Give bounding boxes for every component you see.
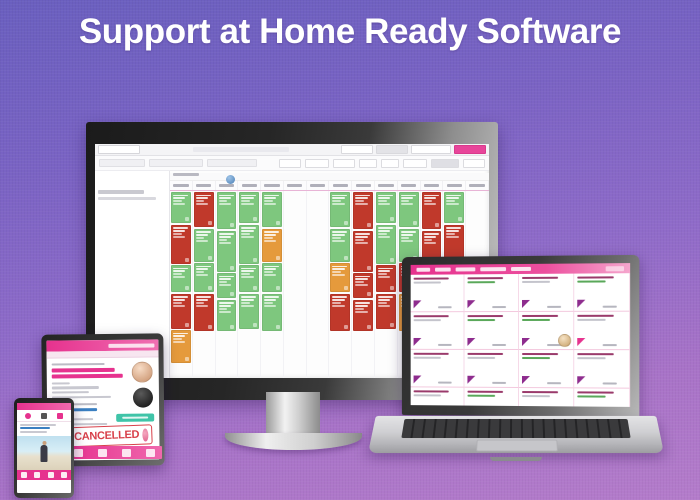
beach-photo (17, 436, 71, 470)
nav-icon-calendar[interactable] (98, 449, 107, 457)
rose-icon (142, 428, 149, 441)
shift-card[interactable] (411, 350, 465, 388)
status-flag-icon (414, 376, 422, 384)
shift-card[interactable] (464, 350, 519, 388)
shift-card-service (577, 281, 605, 283)
phone-bottom-nav[interactable] (17, 470, 71, 480)
calendar-event[interactable] (171, 294, 191, 329)
day-header (261, 181, 284, 190)
shift-card[interactable] (411, 274, 465, 312)
status-flag-icon (467, 338, 475, 346)
shift-card-service (467, 281, 495, 283)
calendar-event[interactable] (330, 229, 350, 262)
shift-card-service (522, 319, 550, 321)
toolbar-button-print[interactable] (411, 145, 451, 154)
staff-avatar (226, 175, 235, 184)
calendar-event[interactable] (171, 192, 191, 223)
topbar-center (143, 147, 338, 152)
calendar-event[interactable] (262, 294, 282, 331)
heart-icon[interactable] (25, 413, 31, 419)
laptop-app-logo (606, 266, 624, 271)
calendar-event[interactable] (262, 192, 282, 227)
phone-nav-home-icon[interactable] (21, 472, 27, 478)
shift-card-name (522, 391, 559, 394)
shift-card[interactable] (411, 312, 465, 350)
address-section-label (52, 382, 70, 384)
tablet-bottom-nav[interactable] (66, 446, 162, 459)
page-title: Support at Home Ready Software (0, 12, 700, 52)
toolbar-button-export[interactable] (376, 145, 408, 154)
heart-outline-icon[interactable] (57, 413, 63, 419)
shift-card-time (492, 344, 506, 346)
shift-card[interactable] (519, 274, 574, 312)
shift-card-service (522, 395, 550, 397)
shift-card-time (603, 382, 617, 384)
day-header (421, 181, 444, 190)
shift-card-name (577, 314, 614, 317)
laptop-keyboard[interactable] (401, 419, 630, 438)
service-type-field[interactable] (207, 159, 257, 167)
date-range-field[interactable] (99, 159, 145, 167)
shift-card-service (467, 395, 495, 397)
calendar-event[interactable] (217, 300, 237, 331)
shift-card-grid (411, 273, 631, 407)
mobile-phone (14, 398, 74, 498)
team-branch-field[interactable] (149, 159, 203, 167)
day-header-row (170, 181, 489, 191)
shift-card-time (492, 306, 506, 308)
shift-card-service (577, 319, 605, 321)
day-header (375, 181, 398, 190)
staff-name (98, 190, 144, 194)
staff-role (98, 197, 156, 200)
calendar-event[interactable] (376, 192, 396, 223)
chip-this-week[interactable] (431, 159, 459, 168)
monitor-stand-base (225, 433, 362, 450)
calendar-day-column[interactable] (238, 191, 261, 378)
day-header (398, 181, 421, 190)
shift-card-service (522, 281, 550, 283)
chip-agenda[interactable] (403, 159, 427, 168)
calendar-event[interactable] (330, 294, 350, 331)
shift-card-service (577, 395, 605, 397)
shift-card-time (603, 344, 617, 346)
phone-nav-profile-icon[interactable] (61, 472, 67, 478)
status-flag-icon (522, 376, 530, 384)
shift-card-time (438, 306, 452, 308)
phone-body-text (17, 422, 71, 436)
calendar-event[interactable] (353, 300, 373, 331)
shift-card-name (577, 353, 614, 356)
status-flag-icon (467, 376, 475, 384)
day-header (466, 181, 489, 190)
calendar-event[interactable] (239, 192, 259, 223)
shift-card-time (547, 382, 561, 384)
client-avatar (132, 361, 153, 382)
shift-card-name (414, 315, 450, 318)
nav-icon-clipboard[interactable] (122, 449, 131, 457)
shift-card-service (467, 319, 495, 321)
calendar-day-column[interactable] (329, 191, 352, 378)
tablet-header-title (108, 343, 154, 347)
photo-person (41, 445, 48, 462)
search-input[interactable] (193, 147, 289, 152)
day-header (329, 181, 352, 190)
tab-home[interactable] (416, 268, 430, 272)
calendar-event[interactable] (422, 192, 442, 229)
person-icon[interactable] (41, 413, 47, 419)
status-flag-icon (414, 300, 422, 308)
shift-card-service (522, 357, 550, 359)
shift-card-name (522, 353, 559, 356)
day-header (307, 181, 330, 190)
shift-card-name (414, 277, 450, 280)
chip-week[interactable] (333, 159, 355, 168)
calendar-event[interactable] (399, 192, 419, 227)
status-flag-icon (577, 376, 585, 384)
status-flag-icon (522, 300, 530, 308)
avatar (558, 334, 571, 347)
shift-card[interactable] (464, 312, 519, 350)
phone-quick-icons (17, 410, 71, 422)
shift-card-time (492, 381, 506, 383)
laptop-lip (490, 457, 542, 461)
shift-card[interactable] (574, 350, 630, 389)
chip-filter[interactable] (305, 159, 329, 168)
new-shift-button[interactable] (454, 145, 486, 154)
shift-card-time (438, 344, 452, 346)
chip-day[interactable] (359, 159, 377, 168)
tab-clients[interactable] (456, 267, 476, 271)
calendar-event[interactable] (330, 192, 350, 227)
shift-card-service (414, 357, 441, 359)
day-header (193, 181, 216, 190)
calendar-event[interactable] (194, 229, 214, 262)
calendar-event[interactable] (353, 192, 373, 229)
day-header (352, 181, 375, 190)
shift-card-name (467, 390, 503, 393)
shift-card-service (577, 357, 605, 359)
shift-date-label (52, 363, 105, 366)
chip-month[interactable] (463, 159, 485, 168)
shift-card[interactable] (519, 312, 574, 350)
nav-icon-profile[interactable] (146, 449, 155, 457)
calendar-event[interactable] (262, 229, 282, 262)
cancelled-stamp-label: CANCELLED (74, 429, 140, 443)
chip-assign[interactable] (279, 159, 301, 168)
shift-card-service (414, 319, 441, 321)
phone-nav-clipboard-icon[interactable] (48, 472, 54, 478)
status-flag-icon (577, 300, 585, 308)
calendar-event[interactable] (217, 273, 237, 298)
calendar-day-column[interactable] (261, 191, 284, 378)
shift-card-name (467, 315, 503, 318)
shift-card-time (547, 305, 561, 307)
shift-card-time (438, 381, 452, 383)
day-header (284, 181, 307, 190)
day-header (238, 181, 261, 190)
phone-app-header (17, 403, 71, 410)
calendar-event[interactable] (239, 294, 259, 329)
calendar-event[interactable] (194, 294, 214, 331)
shift-card[interactable] (574, 388, 630, 407)
phone-line-2 (20, 431, 47, 433)
shift-card-name (414, 352, 450, 355)
address-line-1 (52, 386, 99, 389)
month-row (170, 173, 489, 181)
calendar-event[interactable] (171, 265, 191, 292)
laptop-base (368, 416, 664, 453)
status-flag-icon (522, 338, 530, 346)
calendar-event[interactable] (171, 225, 191, 264)
tab-timesheets[interactable] (480, 267, 506, 271)
laptop-screen (411, 263, 631, 407)
calendar-event[interactable] (194, 263, 214, 292)
shift-card-name (467, 352, 503, 355)
laptop-trackpad[interactable] (476, 440, 558, 452)
nav-icon-home[interactable] (74, 449, 83, 457)
monitor-stand-neck (266, 392, 320, 438)
promo-banner: Support at Home Ready Software (0, 0, 700, 500)
laptop (372, 256, 660, 466)
calendar-day-column[interactable] (216, 191, 239, 378)
month-label (173, 173, 199, 176)
status-flag-icon (414, 338, 422, 346)
chip-list[interactable] (381, 159, 399, 168)
calendar-day-column[interactable] (170, 191, 193, 378)
shift-card-name (577, 391, 614, 394)
calendar-event[interactable] (330, 263, 350, 292)
app-logo (98, 145, 140, 154)
calendar-event[interactable] (353, 231, 373, 272)
address-line-2 (52, 391, 89, 394)
toolbar-button-filter[interactable] (341, 145, 373, 154)
shift-card-service (414, 394, 441, 396)
day-header (443, 181, 466, 190)
rostering-subtoolbar (95, 156, 489, 171)
status-flag-icon (577, 338, 585, 346)
phone-link[interactable] (20, 427, 50, 429)
laptop-lid (402, 255, 639, 417)
calendar-event[interactable] (239, 265, 259, 292)
calendar-event[interactable] (262, 263, 282, 292)
calendar-event[interactable] (239, 225, 259, 264)
calendar-event[interactable] (171, 330, 191, 363)
calendar-day-column[interactable] (307, 191, 330, 378)
shift-card-name (577, 276, 614, 279)
phone-line-1 (20, 424, 56, 426)
status-flag-icon (467, 300, 475, 308)
shift-card-time (603, 305, 617, 307)
tab-roster[interactable] (435, 268, 451, 272)
get-directions-button[interactable] (116, 413, 154, 421)
tab-payroll[interactable] (511, 267, 531, 271)
shift-card-name (467, 277, 503, 280)
shift-card[interactable] (574, 312, 630, 350)
map-pin-icon (133, 387, 153, 407)
shift-card[interactable] (411, 387, 465, 407)
shift-card[interactable] (519, 388, 574, 407)
shift-card-name (522, 276, 559, 279)
calendar-event[interactable] (194, 192, 214, 227)
shift-card-name (522, 314, 559, 317)
shift-service-title (52, 368, 115, 372)
day-header (170, 181, 193, 190)
calendar-event[interactable] (217, 192, 237, 229)
calendar-event[interactable] (353, 273, 373, 298)
shift-card-service (414, 282, 441, 284)
rostering-topbar (95, 144, 489, 156)
calendar-event[interactable] (217, 231, 237, 272)
shift-client-name (52, 374, 123, 378)
shift-card[interactable] (464, 274, 519, 312)
calendar-day-column[interactable] (284, 191, 307, 378)
calendar-day-column[interactable] (193, 191, 216, 378)
phone-nav-calendar-icon[interactable] (34, 472, 40, 478)
shift-card-service (467, 357, 495, 359)
shift-card-name (414, 390, 450, 393)
shift-card[interactable] (519, 350, 574, 388)
calendar-event[interactable] (444, 192, 464, 223)
phone-screen (17, 403, 71, 493)
shift-card[interactable] (574, 273, 630, 312)
shift-card[interactable] (464, 388, 519, 407)
